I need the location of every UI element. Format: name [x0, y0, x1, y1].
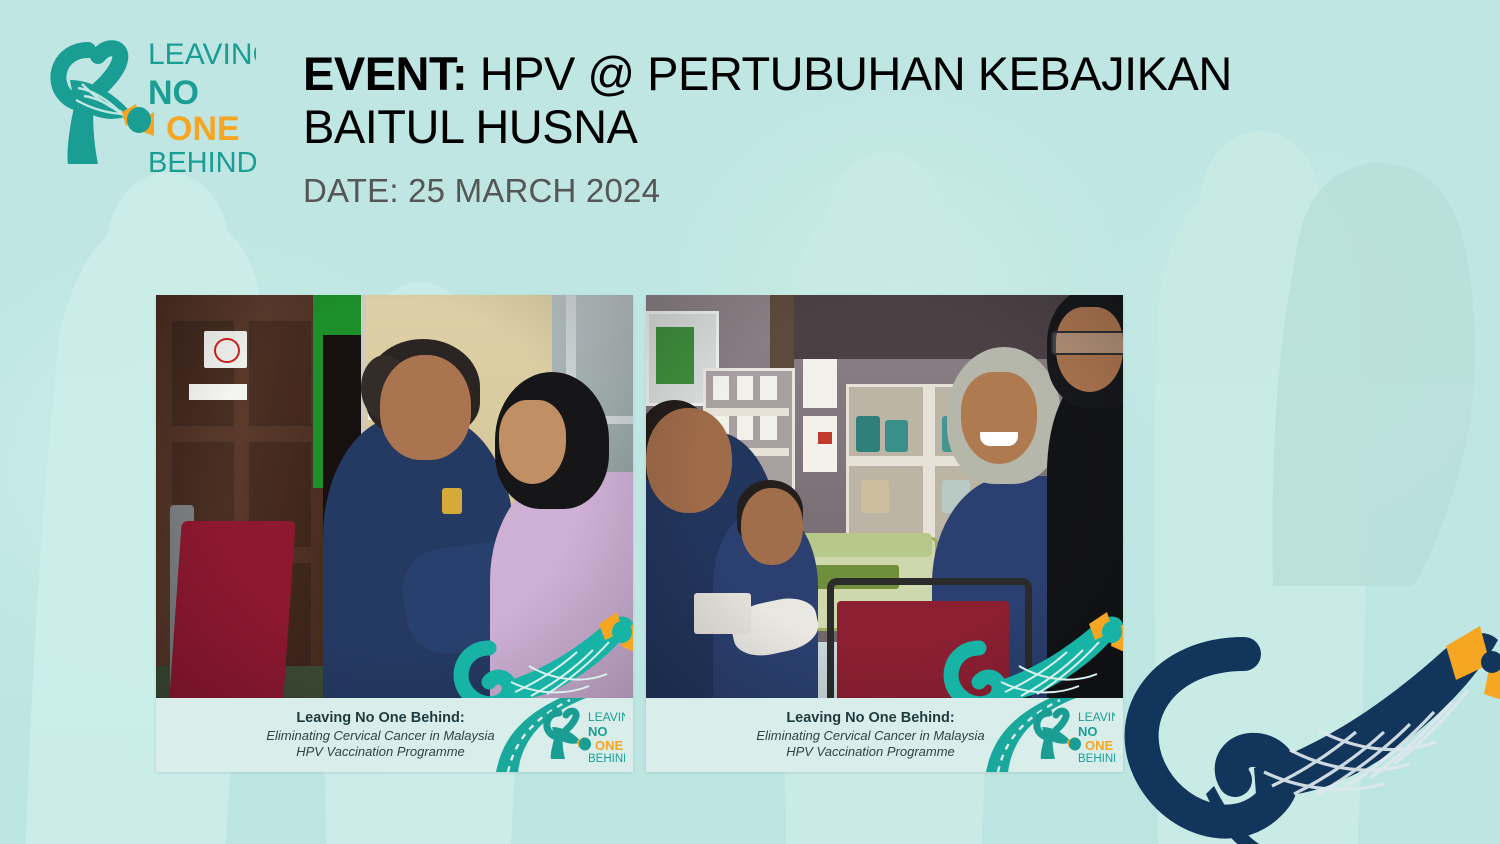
- event-date: DATE: 25 MARCH 2024: [303, 172, 1393, 210]
- event-label: EVENT:: [303, 47, 467, 100]
- teal-ribbon-overlay: [939, 606, 1123, 698]
- svg-text:LEAVING: LEAVING: [148, 38, 256, 71]
- caption-line-3: HPV Vaccination Programme: [266, 744, 494, 761]
- caption-text-left: Leaving No One Behind: Eliminating Cervi…: [266, 709, 522, 761]
- svg-text:BEHIND: BEHIND: [588, 753, 625, 763]
- photo-card-right[interactable]: Leaving No One Behind: Eliminating Cervi…: [646, 295, 1123, 772]
- brand-logo: LEAVING NO ONE BEHIND: [36, 32, 256, 177]
- caption-text-right: Leaving No One Behind: Eliminating Cervi…: [756, 709, 1012, 761]
- teal-ribbon-overlay: [449, 606, 633, 698]
- caption-line-2: Eliminating Cervical Cancer in Malaysia: [266, 728, 494, 745]
- svg-text:NO: NO: [588, 724, 608, 739]
- photo-right: [646, 295, 1123, 698]
- svg-text:BEHIND: BEHIND: [148, 147, 256, 177]
- svg-text:NO: NO: [1078, 724, 1098, 739]
- svg-text:ONE: ONE: [1085, 738, 1114, 753]
- svg-text:ONE: ONE: [595, 738, 624, 753]
- photo-left: [156, 295, 633, 698]
- svg-text:LEAVING: LEAVING: [588, 710, 625, 724]
- card-caption-right: Leaving No One Behind: Eliminating Cervi…: [646, 698, 1123, 772]
- caption-line-1: Leaving No One Behind:: [266, 709, 494, 728]
- svg-text:ONE: ONE: [166, 110, 240, 148]
- svg-text:BEHIND: BEHIND: [1078, 753, 1115, 763]
- corner-ribbon-decoration: [1094, 554, 1500, 844]
- card-caption-left: Leaving No One Behind: Eliminating Cervi…: [156, 698, 633, 772]
- caption-logo-left: LEAVING NO ONE BEHIND: [541, 705, 625, 763]
- caption-line-1: Leaving No One Behind:: [756, 709, 984, 728]
- caption-logo-right: LEAVING NO ONE BEHIND: [1031, 705, 1115, 763]
- title-block: EVENT: HPV @ PERTUBUHAN KEBAJIKAN BAITUL…: [303, 47, 1393, 210]
- photo-card-left[interactable]: Leaving No One Behind: Eliminating Cervi…: [156, 295, 633, 772]
- svg-text:LEAVING: LEAVING: [1078, 710, 1115, 724]
- caption-line-3: HPV Vaccination Programme: [756, 744, 984, 761]
- svg-text:NO: NO: [148, 74, 199, 112]
- caption-line-2: Eliminating Cervical Cancer in Malaysia: [756, 728, 984, 745]
- event-title: EVENT: HPV @ PERTUBUHAN KEBAJIKAN BAITUL…: [303, 47, 1393, 153]
- photo-card-list: Leaving No One Behind: Eliminating Cervi…: [156, 295, 1123, 772]
